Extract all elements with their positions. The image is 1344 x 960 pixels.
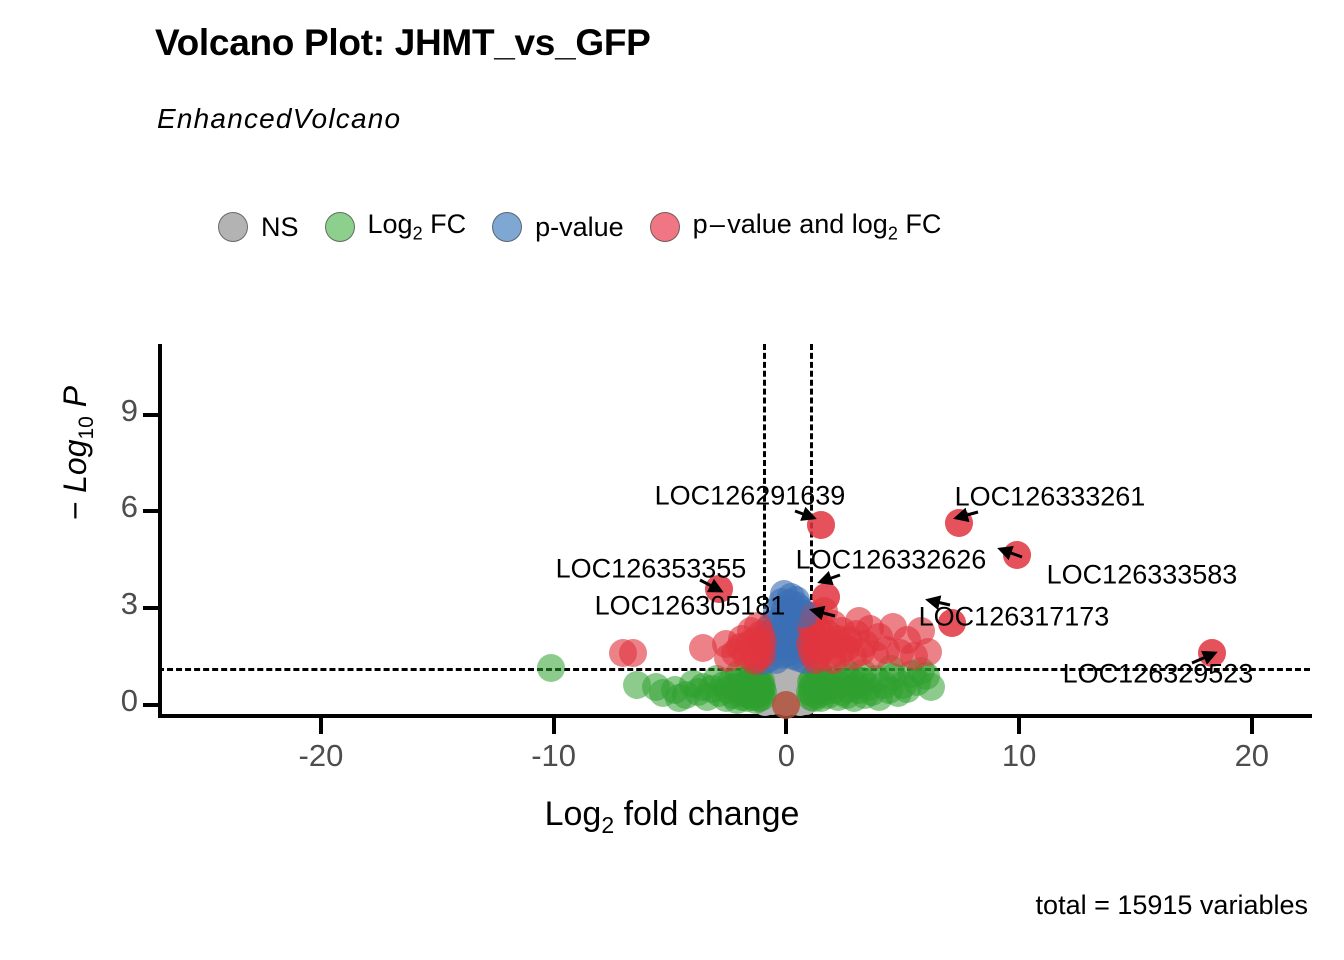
x-axis-tick-label: -20 — [261, 738, 381, 774]
gene-label: LOC126305181 — [595, 591, 786, 622]
highlighted-point — [1003, 541, 1031, 569]
scatter-point — [917, 673, 945, 701]
x-axis-tick — [1017, 718, 1021, 734]
legend-dot-ns-icon — [218, 212, 248, 242]
gene-label: LOC126333261 — [955, 482, 1146, 513]
x-axis-tick — [1250, 718, 1254, 734]
x-axis-tick-label: 20 — [1192, 738, 1312, 774]
scatter-point — [819, 646, 847, 674]
legend-label-log2fc: Log2 FC — [368, 209, 467, 244]
x-axis-tick — [784, 718, 788, 734]
legend-label-ns: NS — [261, 212, 299, 243]
y-axis-tick — [143, 413, 159, 417]
gene-label: LOC126332626 — [796, 545, 987, 576]
total-variables-caption: total = 15915 variables — [1036, 890, 1308, 921]
volcano-plot-figure: Volcano Plot: JHMT_vs_GFP EnhancedVolcan… — [0, 0, 1344, 960]
gene-label: LOC126329523 — [1063, 659, 1254, 690]
scatter-point — [772, 691, 800, 719]
y-axis-tick-label: 6 — [121, 489, 138, 525]
highlighted-point — [945, 509, 973, 537]
legend-item-ns[interactable]: NS — [218, 212, 299, 243]
legend-item-pvalue[interactable]: p-value — [492, 212, 624, 243]
legend-dot-pvalue-icon — [492, 212, 522, 242]
x-axis-tick-label: -10 — [494, 738, 614, 774]
gene-label: LOC126353355 — [556, 554, 747, 585]
y-axis-tick-label: 9 — [121, 393, 138, 429]
y-axis-tick — [143, 509, 159, 513]
y-axis-tick — [143, 703, 159, 707]
plot-subtitle: EnhancedVolcano — [157, 103, 401, 135]
x-axis-tick — [552, 718, 556, 734]
x-axis-title: Log2 fold change — [0, 795, 1344, 839]
legend-dot-both-icon — [650, 212, 680, 242]
scatter-point — [619, 639, 647, 667]
legend-label-both: p – value and log2 FC — [693, 209, 942, 244]
x-axis-tick-label: 0 — [726, 738, 846, 774]
page-title: Volcano Plot: JHMT_vs_GFP — [155, 22, 651, 64]
y-axis-title: − Log10 P — [57, 323, 99, 583]
x-axis-tick — [319, 718, 323, 734]
scatter-point — [741, 647, 769, 675]
legend: NS Log2 FC p-value p – value and log2 FC — [218, 203, 967, 251]
gene-label: LOC126291639 — [655, 481, 846, 512]
gene-label: LOC126333583 — [1047, 560, 1238, 591]
x-axis-tick-label: 10 — [959, 738, 1079, 774]
y-axis-tick-label: 0 — [121, 683, 138, 719]
gene-label: LOC126317173 — [919, 602, 1110, 633]
scatter-point — [712, 630, 740, 658]
legend-item-both[interactable]: p – value and log2 FC — [650, 209, 942, 244]
scatter-point — [914, 638, 942, 666]
y-axis-tick-label: 3 — [121, 586, 138, 622]
highlighted-point — [790, 600, 818, 628]
scatter-point — [845, 607, 873, 635]
scatter-point — [537, 654, 565, 682]
legend-item-log2fc[interactable]: Log2 FC — [325, 209, 467, 244]
legend-label-pvalue: p-value — [535, 212, 624, 243]
highlighted-point — [807, 511, 835, 539]
legend-dot-log2fc-icon — [325, 212, 355, 242]
y-axis-tick — [143, 606, 159, 610]
